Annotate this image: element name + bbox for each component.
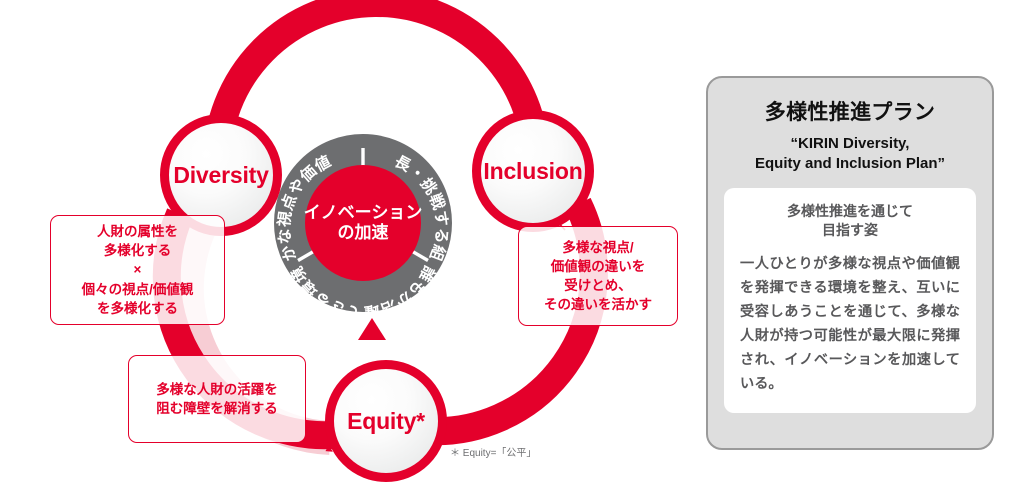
center-line-2: の加速 (338, 223, 389, 243)
panel-subtitle: “KIRIN Diversity, Equity and Inclusion P… (724, 134, 976, 174)
center-disc: イノベーション の加速 (305, 165, 421, 281)
node-equity[interactable]: Equity* (325, 360, 447, 482)
callout-diversity: 人財の属性を 多様化する × 個々の視点/価値観 を多様化する (50, 215, 225, 325)
footnote-equity: ＊ Equity=「公平」 (450, 444, 536, 459)
callout-equity-line-1: 多様な人財の活躍を (156, 380, 278, 399)
callout-diversity-line-3: × (134, 260, 142, 279)
node-inclusion-label: Inclusion (483, 158, 582, 185)
panel-inner-box: 多様性推進を通じて 目指す姿 一人ひとりが多様な視点や価値観を発揮できる環境を整… (724, 188, 976, 413)
panel-inner-heading-line-2: 目指す姿 (740, 221, 960, 241)
node-inclusion[interactable]: Inclusion (472, 110, 594, 232)
center-line-1: イノベーション (304, 203, 423, 223)
node-equity-label: Equity* (347, 408, 425, 435)
diversity-plan-panel: 多様性推進プラン “KIRIN Diversity, Equity and In… (706, 76, 994, 450)
panel-inner-heading: 多様性推進を通じて 目指す姿 (740, 202, 960, 242)
panel-inner-heading-line-1: 多様性推進を通じて (740, 202, 960, 222)
panel-subtitle-line-2: Equity and Inclusion Plan” (724, 154, 976, 174)
callout-inclusion-line-4: その違いを活かす (544, 295, 652, 314)
diversity-cycle-diagram: 豊かな視点や価値観 成長・挑戦する組織 誰もが活躍できる環境 イノベーション の… (0, 0, 690, 504)
callout-inclusion-line-2: 価値観の違いを (551, 257, 646, 276)
callout-inclusion: 多様な視点/ 価値観の違いを 受けとめ、 その違いを活かす (518, 226, 678, 326)
callout-diversity-line-2: 多様化する (104, 241, 172, 260)
callout-diversity-line-4: 個々の視点/価値観 (82, 280, 194, 299)
callout-diversity-line-5: を多様化する (97, 299, 178, 318)
panel-title: 多様性推進プラン (724, 96, 976, 126)
node-diversity-label: Diversity (173, 162, 268, 189)
callout-diversity-line-1: 人財の属性を (97, 222, 178, 241)
red-arrow-into-ring (358, 318, 386, 340)
callout-inclusion-line-1: 多様な視点/ (562, 238, 633, 257)
panel-subtitle-line-1: “KIRIN Diversity, (724, 134, 976, 154)
callout-inclusion-line-3: 受けとめ、 (564, 276, 632, 295)
callout-equity: 多様な人財の活躍を 阻む障壁を解消する (128, 355, 306, 443)
panel-body-text: 一人ひとりが多様な視点や価値観を発揮できる環境を整え、互いに受容しあうことを通じ… (740, 253, 960, 396)
callout-equity-line-2: 阻む障壁を解消する (156, 399, 278, 418)
inner-ring-group: 豊かな視点や価値観 成長・挑戦する組織 誰もが活躍できる環境 イノベーション の… (268, 128, 458, 318)
